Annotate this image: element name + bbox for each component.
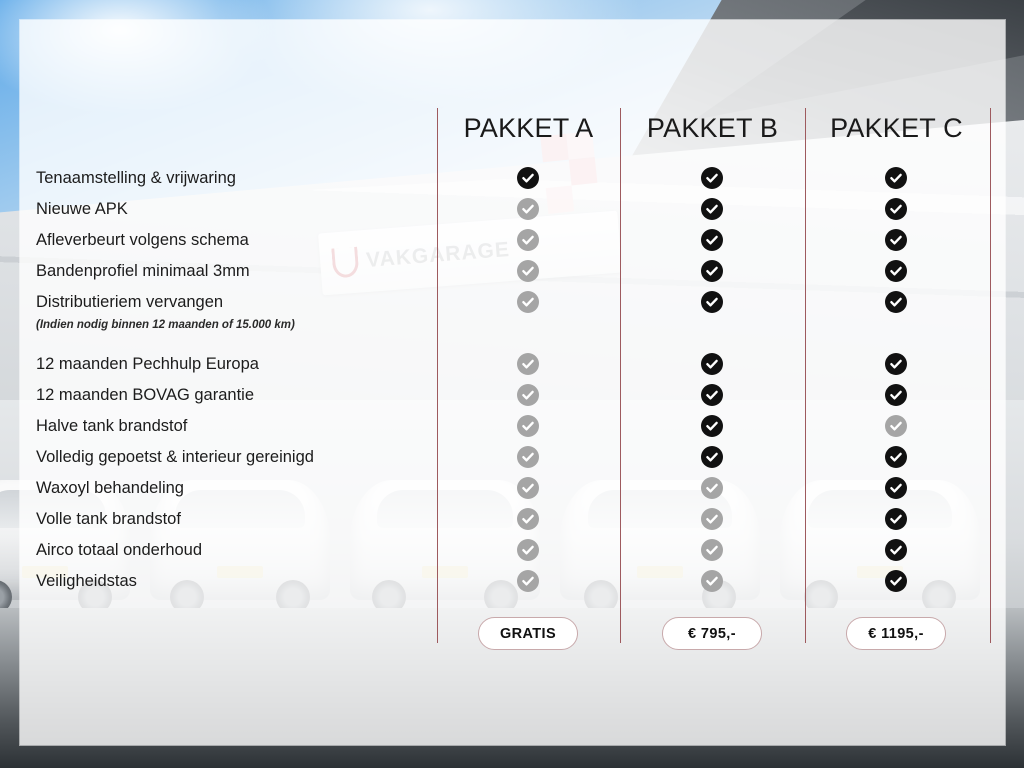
- check-included-icon-c-3: [885, 260, 907, 282]
- check-included-icon-b-3: [701, 446, 723, 468]
- check-included-icon-c-0: [885, 353, 907, 375]
- feature-label: Airco totaal onderhoud: [36, 542, 202, 559]
- check-excluded-icon-a-7: [517, 570, 539, 592]
- feature-label: Afleverbeurt volgens schema: [36, 232, 249, 249]
- check-included-icon-c-7: [885, 570, 907, 592]
- check-included-icon-a-0: [517, 167, 539, 189]
- feature-label: Halve tank brandstof: [36, 418, 187, 435]
- check-included-icon-b-1: [701, 198, 723, 220]
- feature-label: Tenaamstelling & vrijwaring: [36, 170, 236, 187]
- check-included-icon-b-3: [701, 260, 723, 282]
- column-divider-3: [990, 108, 991, 643]
- feature-label: 12 maanden BOVAG garantie: [36, 387, 254, 404]
- check-included-icon-c-1: [885, 198, 907, 220]
- feature-note: (Indien nodig binnen 12 maanden of 15.00…: [36, 320, 295, 332]
- check-excluded-icon-a-4: [517, 477, 539, 499]
- check-included-icon-b-1: [701, 384, 723, 406]
- check-included-icon-b-4: [701, 291, 723, 313]
- check-excluded-icon-b-5: [701, 508, 723, 530]
- check-included-icon-c-1: [885, 384, 907, 406]
- column-header-a: PAKKET A: [437, 113, 620, 144]
- check-excluded-icon-a-3: [517, 260, 539, 282]
- feature-label: Volledig gepoetst & interieur gereinigd: [36, 449, 314, 466]
- check-included-icon-b-2: [701, 229, 723, 251]
- check-excluded-icon-a-6: [517, 539, 539, 561]
- check-included-icon-b-2: [701, 415, 723, 437]
- feature-label: Waxoyl behandeling: [36, 480, 184, 497]
- feature-label: Nieuwe APK: [36, 201, 128, 218]
- column-divider-2: [805, 108, 806, 643]
- check-included-icon-c-0: [885, 167, 907, 189]
- column-divider-0: [437, 108, 438, 643]
- check-included-icon-c-4: [885, 477, 907, 499]
- check-excluded-icon-b-6: [701, 539, 723, 561]
- check-excluded-icon-a-2: [517, 229, 539, 251]
- check-included-icon-c-3: [885, 446, 907, 468]
- check-excluded-icon-a-2: [517, 415, 539, 437]
- column-header-c: PAKKET C: [805, 113, 988, 144]
- price-button-a[interactable]: GRATIS: [478, 617, 578, 650]
- check-included-icon-c-6: [885, 539, 907, 561]
- check-excluded-icon-a-3: [517, 446, 539, 468]
- feature-label: Veiligheidstas: [36, 573, 137, 590]
- feature-label: Distributieriem vervangen: [36, 294, 223, 311]
- check-excluded-icon-a-1: [517, 198, 539, 220]
- feature-label: 12 maanden Pechhulp Europa: [36, 356, 259, 373]
- check-excluded-icon-a-5: [517, 508, 539, 530]
- price-button-c[interactable]: € 1195,-: [846, 617, 946, 650]
- check-excluded-icon-a-1: [517, 384, 539, 406]
- feature-label: Bandenprofiel minimaal 3mm: [36, 263, 250, 280]
- feature-label: Volle tank brandstof: [36, 511, 181, 528]
- check-excluded-icon-a-0: [517, 353, 539, 375]
- check-included-icon-b-0: [701, 353, 723, 375]
- column-header-b: PAKKET B: [621, 113, 804, 144]
- check-included-icon-c-4: [885, 291, 907, 313]
- check-included-icon-b-0: [701, 167, 723, 189]
- check-excluded-icon-b-7: [701, 570, 723, 592]
- price-button-b[interactable]: € 795,-: [662, 617, 762, 650]
- check-included-icon-c-5: [885, 508, 907, 530]
- check-excluded-icon-c-2: [885, 415, 907, 437]
- check-excluded-icon-a-4: [517, 291, 539, 313]
- package-comparison-table: PAKKET APAKKET BPAKKET C Tenaamstelling …: [0, 0, 1024, 768]
- column-divider-1: [620, 108, 621, 643]
- check-included-icon-c-2: [885, 229, 907, 251]
- check-excluded-icon-b-4: [701, 477, 723, 499]
